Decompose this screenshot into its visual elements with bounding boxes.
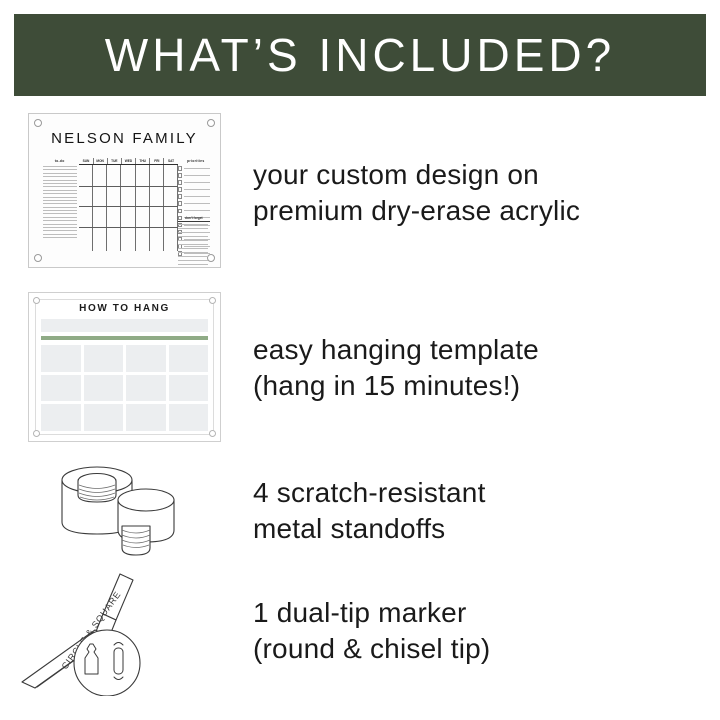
hanging-template-title: HOW TO HANG [29, 303, 220, 314]
template-grid-cell [41, 345, 81, 372]
calendar-priorities-label: priorities [182, 158, 210, 164]
calendar-priority-item [178, 180, 210, 185]
marker-icon: CIRCLE & SQUARE [0, 566, 245, 696]
chisel-tip-shape [85, 644, 98, 674]
template-grid-cell [169, 375, 209, 402]
calendar-priority-item [178, 209, 210, 214]
standoffs-icon [0, 452, 245, 570]
template-grid-cell [169, 345, 209, 372]
standoff-screw-icon [34, 119, 42, 127]
template-grid-cell [41, 375, 81, 402]
template-grid-cell [169, 404, 209, 431]
calendar-priority-item [178, 187, 210, 192]
feature-line-1: your custom design on [253, 157, 720, 193]
template-grid-cell [126, 375, 166, 402]
calendar-day-header: MON [94, 158, 108, 164]
acrylic-calendar-board-illustration: NELSON FAMILY to-do SUNMONTUEWEDTHUFRISA… [0, 108, 245, 278]
feature-row-marker: CIRCLE & SQUARE 1 dual-tip marker (round… [0, 566, 720, 696]
feature-line-2: premium dry-erase acrylic [253, 193, 720, 229]
feature-text-acrylic-board: your custom design on premium dry-erase … [245, 157, 720, 229]
feature-line-2: (hang in 15 minutes!) [253, 368, 720, 404]
standoff-screw-icon [34, 254, 42, 262]
calendar-priority-item [178, 173, 210, 178]
template-grid-cell [84, 375, 124, 402]
calendar-day-header: SAT [164, 158, 177, 164]
feature-line-1: 1 dual-tip marker [253, 595, 720, 631]
calendar-board-title: NELSON FAMILY [29, 130, 220, 147]
template-grid-cell [126, 345, 166, 372]
template-screw-icon [209, 430, 216, 437]
feature-line-1: 4 scratch-resistant [253, 475, 720, 511]
template-grid-cell [84, 404, 124, 431]
feature-row-hanging-template: HOW TO HANG easy hanging template (hang … [0, 288, 720, 448]
calendar-day-header: WED [122, 158, 136, 164]
calendar-dont-forget-lines [178, 224, 208, 251]
calendar-week-grid [79, 165, 177, 251]
round-tip-shape [114, 648, 123, 674]
calendar-board: NELSON FAMILY to-do SUNMONTUEWEDTHUFRISA… [28, 113, 221, 268]
template-grid-cell [84, 345, 124, 372]
template-grid-cell [41, 404, 81, 431]
feature-text-hanging-template: easy hanging template (hang in 15 minute… [245, 332, 720, 404]
template-screw-icon [33, 430, 40, 437]
calendar-days-column: SUNMONTUEWEDTHUFRISAT [79, 158, 177, 251]
template-grid [41, 345, 208, 431]
calendar-todo-lines [43, 166, 77, 251]
calendar-day-header: SUN [79, 158, 93, 164]
calendar-dont-forget-label: don't forget [178, 216, 210, 222]
feature-row-acrylic-board: NELSON FAMILY to-do SUNMONTUEWEDTHUFRISA… [0, 108, 720, 278]
metal-standoffs-illustration [0, 452, 245, 570]
page-title: WHAT’S INCLUDED? [105, 28, 615, 82]
feature-line-2: (round & chisel tip) [253, 631, 720, 667]
feature-row-standoffs: 4 scratch-resistant metal standoffs [0, 452, 720, 570]
feature-line-1: easy hanging template [253, 332, 720, 368]
feature-text-standoffs: 4 scratch-resistant metal standoffs [245, 475, 720, 547]
calendar-priority-item [178, 166, 210, 171]
feature-text-marker: 1 dual-tip marker (round & chisel tip) [245, 595, 720, 667]
template-accent-bar [41, 336, 208, 340]
calendar-day-header: TUE [108, 158, 122, 164]
calendar-priorities-column: priorities don't forget [178, 158, 210, 251]
hanging-template-sheet: HOW TO HANG [28, 292, 221, 442]
calendar-priority-item [178, 194, 210, 199]
hanging-template-illustration: HOW TO HANG [0, 288, 245, 448]
calendar-todo-label: to-do [43, 158, 76, 164]
feature-line-2: metal standoffs [253, 511, 720, 547]
calendar-priority-item [178, 201, 210, 206]
template-header-bar [41, 319, 208, 332]
calendar-grid-area: to-do SUNMONTUEWEDTHUFRISAT pri [43, 158, 210, 251]
standoff-screw-icon [207, 119, 215, 127]
calendar-todo-column: to-do [43, 158, 79, 251]
calendar-day-header: FRI [150, 158, 164, 164]
calendar-day-header: THU [136, 158, 150, 164]
calendar-day-headers: SUNMONTUEWEDTHUFRISAT [79, 158, 177, 165]
template-grid-cell [126, 404, 166, 431]
dual-tip-marker-illustration: CIRCLE & SQUARE [0, 566, 245, 696]
header-banner: WHAT’S INCLUDED? [14, 14, 706, 96]
